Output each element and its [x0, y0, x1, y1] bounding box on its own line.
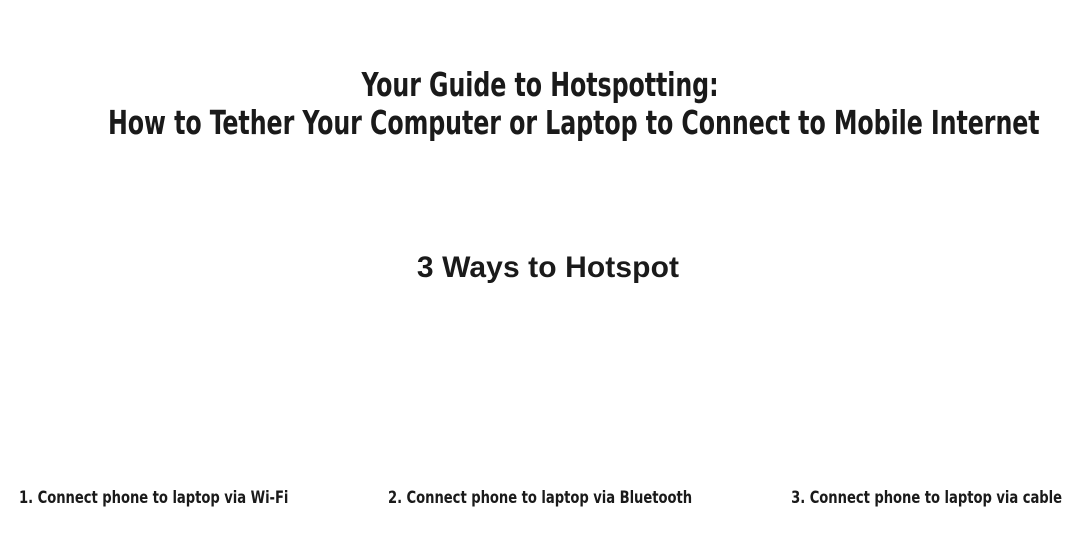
cable-tethering-illustration: [720, 286, 1080, 472]
section-heading-three-ways: 3 Ways to Hotspot: [0, 249, 1080, 287]
wifi-tethering-illustration: [0, 286, 360, 472]
method-illustrations-row: [0, 286, 1080, 472]
article-page: Your Guide to Hotspotting: How to Tether…: [0, 0, 1080, 552]
method-caption-cell-2: 2. Connect phone to laptop via Bluetooth: [360, 487, 720, 515]
method-captions-row: 1. Connect phone to laptop via Wi-Fi 2. …: [0, 487, 1080, 515]
method-caption-cell-3: 3. Connect phone to laptop via cable: [720, 487, 1080, 515]
method-illustration-cell-3: [720, 286, 1080, 472]
method-caption-wifi: 1. Connect phone to laptop via Wi-Fi: [19, 487, 288, 509]
bluetooth-tethering-illustration: [360, 286, 720, 472]
method-illustration-cell-1: [0, 286, 360, 472]
method-caption-cell-1: 1. Connect phone to laptop via Wi-Fi: [0, 487, 360, 515]
method-illustration-cell-2: [360, 286, 720, 472]
page-title: Your Guide to Hotspotting: How to Tether…: [108, 66, 972, 142]
page-title-line-2: How to Tether Your Computer or Laptop to…: [108, 104, 972, 142]
method-caption-bluetooth: 2. Connect phone to laptop via Bluetooth: [388, 487, 692, 509]
method-caption-cable: 3. Connect phone to laptop via cable: [791, 487, 1062, 509]
page-title-line-1: Your Guide to Hotspotting:: [108, 66, 972, 104]
